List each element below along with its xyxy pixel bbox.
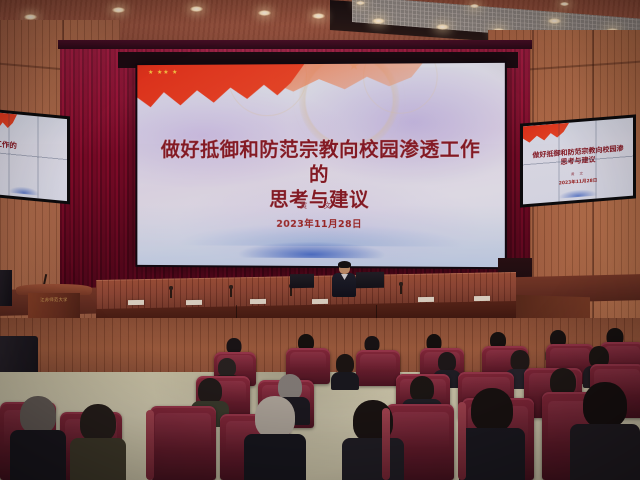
seated-speaker xyxy=(332,262,356,296)
main-projection-screen[interactable]: ★ ★ ★★ ★ 做好抵御和防范宗教向校园渗透工作的 思考与建议 黄 文 202… xyxy=(135,61,506,269)
auditorium-seat[interactable] xyxy=(150,406,216,480)
name-card xyxy=(128,300,144,305)
downlight-icon xyxy=(312,13,325,19)
table-microphone-icon xyxy=(230,287,232,297)
person-body xyxy=(10,430,66,480)
name-card xyxy=(312,299,328,304)
person-body xyxy=(570,424,640,480)
audience-person xyxy=(580,382,630,480)
speaker-hair xyxy=(338,261,351,268)
right-video-wall-surface: 做好抵御和防范宗教向校园渗 思考与建议 黄 文 2023年11月28日 xyxy=(523,118,633,205)
slide-surface: ★ ★ ★★ ★ 做好抵御和防范宗教向校园渗透工作的 思考与建议 黄 文 202… xyxy=(137,63,504,267)
name-card xyxy=(418,297,434,302)
person-body xyxy=(331,372,359,390)
audience-person xyxy=(252,396,298,480)
person-head xyxy=(20,396,56,434)
person-body xyxy=(459,428,525,480)
person-head xyxy=(511,350,530,371)
person-head xyxy=(583,382,627,428)
right-video-wall[interactable]: 做好抵御和防范宗教向校园渗 思考与建议 黄 文 2023年11月28日 xyxy=(520,114,636,207)
name-card xyxy=(186,300,202,305)
auditorium-scene: ★ ★ ★★ ★ 做好抵御和防范宗教向校园渗透工作的 思考与建议 黄 文 202… xyxy=(0,0,640,480)
downlight-icon xyxy=(372,18,385,24)
open-laptop xyxy=(290,274,314,288)
lectern-plaque: 江苏师范大学 xyxy=(34,296,74,303)
person-head xyxy=(471,388,513,432)
slide-date: 2023年11月28日 xyxy=(137,215,504,230)
downlight-icon xyxy=(258,10,271,16)
downlight-icon xyxy=(470,4,479,8)
stage-amplifier xyxy=(0,270,12,306)
table-microphone-icon xyxy=(400,284,402,294)
audience-person xyxy=(16,396,60,480)
person-head xyxy=(438,352,456,372)
curtain-valance xyxy=(58,40,532,49)
auditorium-seat[interactable] xyxy=(356,350,400,386)
slide-wave-front xyxy=(228,239,397,258)
downlight-icon xyxy=(548,18,561,24)
audience-person xyxy=(468,388,516,480)
name-card xyxy=(474,296,490,301)
person-body xyxy=(244,434,306,480)
downlight-icon xyxy=(112,7,125,13)
slide-title-line-1: 做好抵御和防范宗教向校园渗透工作的 xyxy=(159,136,482,187)
left-video-wall[interactable]: 和校园渗透工作的 建议 黄 文 2023年11月28日 xyxy=(0,108,70,205)
person-head xyxy=(255,396,295,438)
left-video-wall-bezel-grid xyxy=(0,111,67,201)
seat-armrest xyxy=(146,410,154,480)
lectern-plaque-text: 江苏师范大学 xyxy=(40,297,68,303)
downlight-icon xyxy=(356,1,365,5)
downlight-icon xyxy=(436,24,449,30)
seat-armrest xyxy=(382,408,390,480)
slide-author: 黄 文 xyxy=(137,200,504,212)
person-head xyxy=(80,404,116,442)
person-body xyxy=(342,438,404,480)
downlight-icon xyxy=(560,2,569,6)
open-laptop xyxy=(356,272,384,289)
left-video-wall-surface: 和校园渗透工作的 建议 黄 文 2023年11月28日 xyxy=(0,111,67,201)
right-video-wall-bezel-grid xyxy=(523,118,633,205)
table-microphone-icon xyxy=(170,288,172,298)
seat-armrest xyxy=(458,402,466,480)
audience-person xyxy=(76,404,120,480)
audience-person xyxy=(334,354,356,386)
name-card xyxy=(250,299,266,304)
person-head xyxy=(336,354,354,374)
person-body xyxy=(70,438,126,480)
flag-stars-icon: ★ ★★ ★ xyxy=(148,70,187,96)
downlight-icon xyxy=(190,6,203,12)
